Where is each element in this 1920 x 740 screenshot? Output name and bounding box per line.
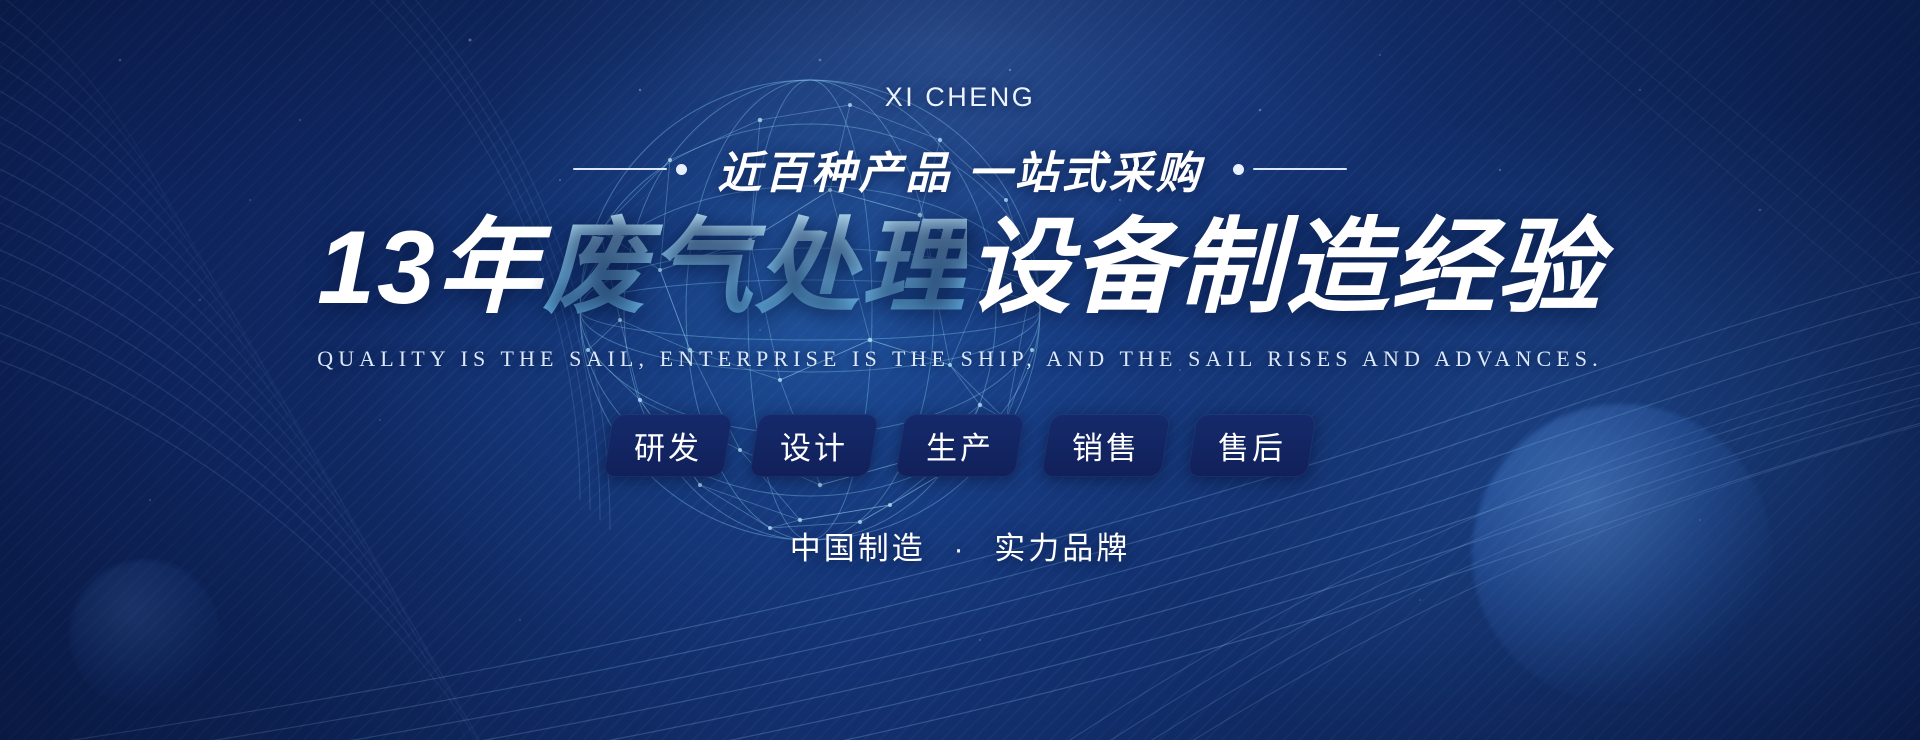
banner-content: XI CHENG 近百种产品 一站式采购 13年废气处理设备制造经验 QUALI…: [0, 0, 1920, 740]
decor-bar-right: [1253, 168, 1347, 170]
service-badge-list: 研发 设计 生产 销售 售后: [608, 414, 1312, 477]
headline-part-highlight: 废气处理: [543, 210, 967, 326]
footnote-left: 中国制造: [790, 531, 926, 566]
hero-banner: XI CHENG 近百种产品 一站式采购 13年废气处理设备制造经验 QUALI…: [0, 0, 1920, 740]
decor-dot-right: [1233, 164, 1244, 175]
service-badge-label: 研发: [634, 423, 702, 468]
service-badge-label: 设计: [780, 423, 848, 468]
service-badge-rd[interactable]: 研发: [608, 414, 728, 477]
banner-tagline: QUALITY IS THE SAIL, ENTERPRISE IS THE S…: [317, 346, 1602, 372]
brand-name-en: XI CHENG: [885, 82, 1036, 113]
service-badge-production[interactable]: 生产: [900, 414, 1020, 477]
decor-line-right: [1233, 164, 1347, 175]
decor-dot-left: [676, 164, 687, 175]
decor-bar-left: [573, 168, 667, 170]
service-badge-design[interactable]: 设计: [754, 414, 874, 477]
service-badge-label: 售后: [1218, 423, 1286, 468]
service-badge-label: 生产: [926, 423, 994, 468]
decor-line-left: [573, 164, 687, 175]
service-badge-label: 销售: [1072, 423, 1140, 468]
footnote-right: 实力品牌: [994, 531, 1130, 566]
headline-part-1: 13年: [317, 210, 543, 326]
footnote-separator: ·: [953, 531, 966, 566]
banner-footnote: 中国制造 · 实力品牌: [790, 523, 1131, 568]
service-badge-sales[interactable]: 销售: [1046, 414, 1166, 477]
banner-headline: 13年废气处理设备制造经验: [317, 207, 1603, 330]
service-badge-aftersales[interactable]: 售后: [1192, 414, 1312, 477]
banner-subtitle: 近百种产品 一站式采购: [717, 137, 1202, 201]
headline-part-3: 设备制造经验: [967, 210, 1603, 326]
subtitle-row: 近百种产品 一站式采购: [573, 137, 1346, 201]
